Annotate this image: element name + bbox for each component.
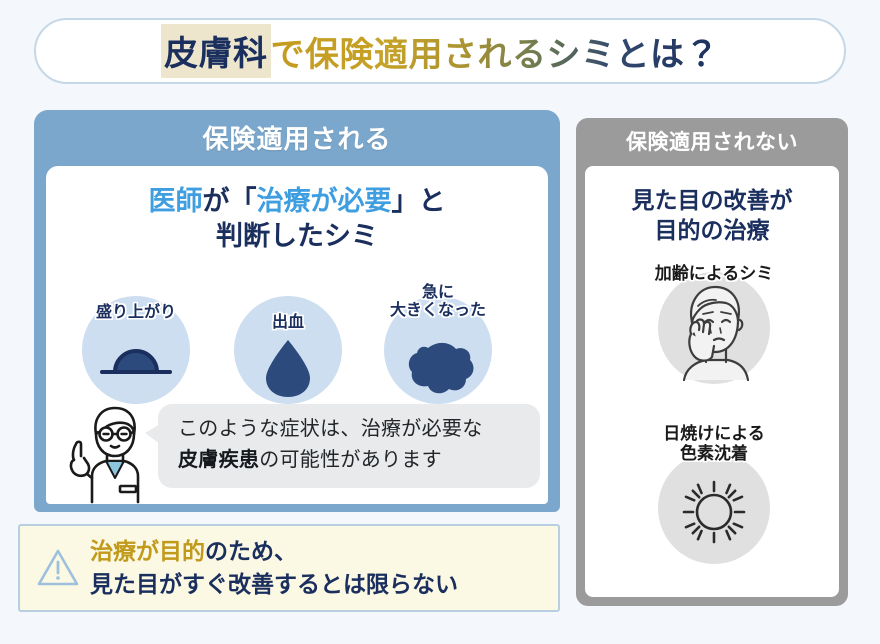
covered-heading-ga: が「 (203, 186, 257, 216)
exclusion-label: 加齢によるシミ (585, 264, 841, 284)
covered-heading-doctor: 医師 (149, 186, 203, 216)
covered-heading-to: 」と (392, 186, 446, 216)
page-title: 皮膚科で保険適用されるシミとは？ (161, 24, 719, 78)
exclusion-label-line1: 加齢によるシミ (585, 264, 841, 284)
bubble-line2-rest: の可能性があります (259, 449, 442, 471)
covered-panel: 保険適用される 医師が「治療が必要」と 判断したシミ 盛り上がり (34, 110, 560, 512)
blood-drop-icon (234, 296, 342, 404)
title-banner: 皮膚科で保険適用されるシミとは？ (34, 18, 846, 84)
sun-icon (658, 452, 770, 564)
bubble-strong-text: 皮膚疾患 (178, 449, 259, 471)
condition-list: 盛り上がり 出血 急に 大き (46, 286, 548, 406)
condition-label-line1: 出血 (212, 314, 364, 332)
warning-triangle-icon (32, 543, 84, 593)
bubble-line-1: このような症状は、治療が必要な (178, 414, 524, 445)
condition-label-line1: 盛り上がり (60, 304, 212, 322)
warning-gold-text: 治療が目的 (90, 538, 205, 564)
not-covered-panel: 保険適用されない 見た目の改善が 目的の治療 加齢によるシミ (576, 118, 848, 606)
exclusion-icon-wrap (658, 452, 770, 564)
warning-line1-rest: のため、 (205, 538, 297, 564)
warning-text: 治療が目的のため、 見た目がすぐ改善するとは限らない (84, 535, 458, 600)
doctor-speech-bubble: このような症状は、治療が必要な 皮膚疾患の可能性があります (158, 404, 540, 488)
covered-heading-line1: 医師が「治療が必要」と (46, 184, 548, 219)
not-covered-heading: 見た目の改善が 目的の治療 (585, 186, 839, 246)
title-rest: で保険適用されるシミとは？ (271, 27, 720, 76)
warning-line-2: 見た目がすぐ改善するとは限らない (90, 568, 458, 601)
condition-label: 出血 (212, 314, 364, 332)
not-covered-panel-header: 保険適用されない (576, 118, 848, 164)
title-highlight: 皮膚科 (161, 24, 271, 78)
condition-label: 盛り上がり (60, 304, 212, 322)
condition-label-line2: 大きくなった (362, 302, 514, 320)
covered-panel-card: 医師が「治療が必要」と 判断したシミ 盛り上がり (46, 166, 548, 504)
condition-item: 急に 大きくなった (384, 286, 492, 394)
warning-box: 治療が目的のため、 見た目がすぐ改善するとは限らない (18, 524, 560, 612)
not-covered-heading-line2: 目的の治療 (585, 216, 839, 246)
elderly-face-icon (658, 272, 770, 384)
covered-panel-header: 保険適用される (34, 110, 560, 165)
condition-label: 急に 大きくなった (362, 284, 514, 320)
not-covered-heading-line1: 見た目の改善が (585, 186, 839, 216)
bubble-line-2: 皮膚疾患の可能性があります (178, 445, 524, 476)
not-covered-panel-card: 見た目の改善が 目的の治療 加齢によるシミ (583, 164, 841, 599)
exclusion-label-line2: 色素沈着 (585, 444, 841, 464)
warning-line-1: 治療が目的のため、 (90, 535, 458, 568)
exclusion-item: 日焼けによる 色素沈着 (585, 424, 841, 564)
covered-heading-line2: 判断したシミ (46, 219, 548, 254)
exclusion-item: 加齢によるシミ (585, 264, 841, 384)
condition-item: 出血 (234, 286, 342, 394)
exclusion-icon-wrap (658, 272, 770, 384)
exclusion-label: 日焼けによる 色素沈着 (585, 424, 841, 464)
condition-label-line1: 急に (362, 284, 514, 302)
doctor-advice-row: このような症状は、治療が必要な 皮膚疾患の可能性があります (46, 404, 548, 504)
female-doctor-icon (60, 398, 166, 504)
condition-item: 盛り上がり (82, 286, 190, 394)
exclusion-label-line1: 日焼けによる (585, 424, 841, 444)
covered-heading-treatment: 治療が必要 (257, 186, 392, 216)
covered-heading: 医師が「治療が必要」と 判断したシミ (46, 184, 548, 253)
